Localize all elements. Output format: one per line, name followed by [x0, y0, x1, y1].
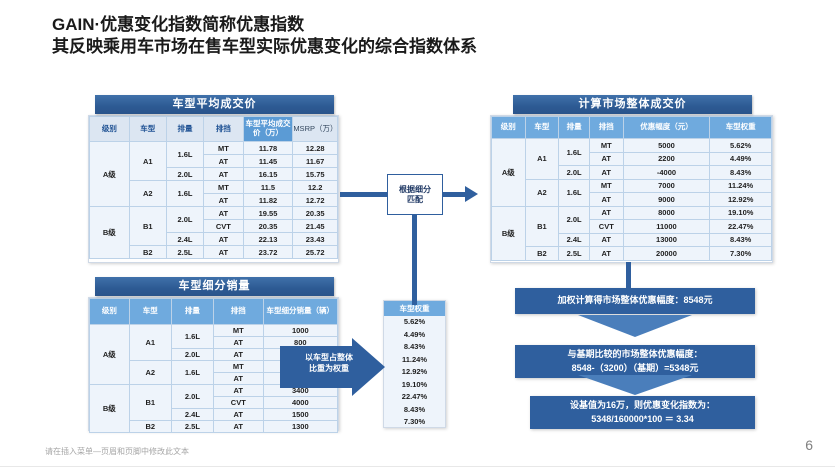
header-level: 级别: [90, 299, 130, 325]
header-weight: 车型权重: [710, 117, 772, 139]
table-header-row: 级别 车型 排量 排挡 优惠幅度（元） 车型权重: [492, 117, 772, 139]
weight-arrow-callout: 以车型占整体 比重为权重: [280, 338, 385, 396]
page-number: 6: [805, 437, 813, 453]
weight-column-card: 车型权重 5.62% 4.49% 8.43% 11.24% 12.92% 19.…: [383, 300, 446, 428]
cell-gear: AT: [213, 349, 263, 361]
cell-sales: 1300: [263, 421, 337, 433]
header-model: 车型: [129, 299, 171, 325]
result-box-market-discount: 加权计算得市场整体优惠幅度：8548元: [515, 288, 755, 314]
cell-discount: 7000: [623, 179, 710, 193]
cell-weight: 8.43%: [710, 233, 772, 247]
cell-model: B2: [129, 246, 166, 259]
cell-model: A1: [525, 139, 559, 180]
match-label-line-2: 匹配: [399, 195, 431, 205]
cell-displacement: 1.6L: [166, 181, 203, 207]
slide-canvas: GAIN·优惠变化指数简称优惠指数 其反映乘用车市场在售车型实际优惠变化的综合指…: [0, 0, 835, 467]
result-3-text: 设基值为16万，则优惠变化指数为： 5348/160000*100 ＝ 3.34: [570, 399, 715, 425]
cell-discount: 5000: [623, 139, 710, 153]
cell-displacement: 2.5L: [166, 246, 203, 259]
header-level: 级别: [90, 117, 130, 142]
result-2-text: 与基期比较的市场整体优惠幅度： 8548-（3200）（基期）=5348元: [567, 348, 702, 374]
cell-displacement: 1.6L: [559, 139, 590, 166]
cell-discount: 11000: [623, 220, 710, 234]
header-gear: 排挡: [213, 299, 263, 325]
cell-weight: 11.24%: [710, 179, 772, 193]
cell-model: A1: [129, 325, 171, 361]
avg-price-table-title: 车型平均成交价: [95, 95, 334, 114]
cell-gear: AT: [589, 247, 623, 261]
cell-weight: 8.43%: [710, 166, 772, 180]
weight-value: 12.92%: [384, 366, 445, 379]
connector-line-right: [443, 192, 467, 197]
result-box-base-comparison: 与基期比较的市场整体优惠幅度： 8548-（3200）（基期）=5348元: [515, 345, 755, 378]
table-row: A级 A1 1.6L MT 5000 5.62%: [492, 139, 772, 153]
down-arrow-icon: [578, 375, 692, 395]
title-line-secondary: 其反映乘用车市场在售车型实际优惠变化的综合指数体系: [52, 36, 792, 58]
cell-avg-price: 11.78: [243, 142, 293, 155]
cell-displacement: 1.6L: [171, 361, 213, 385]
cell-discount: 2200: [623, 152, 710, 166]
cell-model: A2: [129, 181, 166, 207]
cell-displacement: 1.6L: [171, 325, 213, 349]
table-row: A级 A1 1.6L MT 11.78 12.28: [90, 142, 338, 155]
cell-msrp: 12.2: [293, 181, 338, 194]
cell-gear: AT: [213, 409, 263, 421]
cell-msrp: 12.28: [293, 142, 338, 155]
title-line-primary: GAIN·优惠变化指数简称优惠指数: [52, 14, 792, 36]
cell-displacement: 1.6L: [559, 179, 590, 206]
connector-line-left: [340, 192, 388, 197]
cell-displacement: 2.4L: [171, 409, 213, 421]
market-price-table-title: 计算市场整体成交价: [513, 95, 752, 114]
table-row: B2 2.5L AT 20000 7.30%: [492, 247, 772, 261]
cell-gear: MT: [204, 142, 244, 155]
avg-price-table: 级别 车型 排量 排挡 车型平均成交价（万） MSRP（万） A级 A1 1.6…: [89, 116, 338, 259]
cell-model: B2: [129, 421, 171, 433]
header-avg-price: 车型平均成交价（万）: [243, 117, 293, 142]
weight-value: 8.43%: [384, 341, 445, 354]
header-displacement: 排量: [166, 117, 203, 142]
match-connector-box: 根据细分 匹配: [387, 174, 443, 215]
cell-discount: 9000: [623, 193, 710, 207]
cell-gear: CVT: [589, 220, 623, 234]
cell-displacement: 2.5L: [559, 247, 590, 261]
cell-displacement: 2.0L: [166, 168, 203, 181]
result-3-line-1: 设基值为16万，则优惠变化指数为：: [570, 399, 715, 412]
table-row: A2 1.6L MT 7000 11.24%: [492, 179, 772, 193]
cell-gear: AT: [589, 193, 623, 207]
header-gear: 排挡: [204, 117, 244, 142]
cell-weight: 4.49%: [710, 152, 772, 166]
cell-displacement: 2.4L: [166, 233, 203, 246]
match-connector-label: 根据细分 匹配: [399, 185, 431, 205]
cell-level: B级: [492, 206, 526, 260]
cell-avg-price: 16.15: [243, 168, 293, 181]
weight-value: 19.10%: [384, 379, 445, 392]
cell-displacement: 2.0L: [171, 349, 213, 361]
cell-model: A1: [129, 142, 166, 181]
table-row: B级 B1 2.0L AT 19.55 20.35: [90, 207, 338, 220]
cell-gear: AT: [204, 246, 244, 259]
avg-price-table-body: A级 A1 1.6L MT 11.78 12.28 AT 11.45 11.67…: [90, 142, 338, 259]
cell-gear: AT: [204, 207, 244, 220]
cell-displacement: 2.0L: [559, 166, 590, 180]
weight-value: 5.62%: [384, 316, 445, 329]
match-label-line-1: 根据细分: [399, 185, 431, 195]
cell-weight: 12.92%: [710, 193, 772, 207]
header-model: 车型: [525, 117, 559, 139]
header-gear: 排挡: [589, 117, 623, 139]
cell-gear: MT: [589, 179, 623, 193]
weight-arrow-line-2: 比重为权重: [290, 363, 368, 374]
cell-weight: 7.30%: [710, 247, 772, 261]
cell-gear: MT: [213, 325, 263, 337]
cell-discount: 20000: [623, 247, 710, 261]
cell-model: A2: [525, 179, 559, 206]
cell-avg-price: 22.13: [243, 233, 293, 246]
header-sales: 车型细分销量（辆）: [263, 299, 337, 325]
cell-avg-price: 23.72: [243, 246, 293, 259]
cell-level: A级: [90, 325, 130, 385]
cell-gear: MT: [213, 361, 263, 373]
cell-gear: AT: [589, 206, 623, 220]
result-2-line-2: 8548-（3200）（基期）=5348元: [567, 362, 702, 375]
cell-level: B级: [90, 207, 130, 259]
sales-table-title: 车型细分销量: [95, 277, 334, 296]
header-displacement: 排量: [171, 299, 213, 325]
cell-avg-price: 19.55: [243, 207, 293, 220]
cell-avg-price: 11.5: [243, 181, 293, 194]
cell-level: A级: [492, 139, 526, 207]
table-header-row: 级别 车型 排量 排挡 车型平均成交价（万） MSRP（万）: [90, 117, 338, 142]
page-title: GAIN·优惠变化指数简称优惠指数 其反映乘用车市场在售车型实际优惠变化的综合指…: [52, 14, 792, 58]
cell-gear: AT: [204, 194, 244, 207]
avg-price-table-card: 车型平均成交价 级别 车型 排量 排挡 车型平均成交价（万） MSRP（万） A…: [88, 115, 339, 263]
cell-gear: AT: [213, 337, 263, 349]
cell-msrp: 20.35: [293, 207, 338, 220]
weight-arrow-line-1: 以车型占整体: [290, 352, 368, 363]
table-row: A级 A1 1.6L MT 1000: [90, 325, 338, 337]
cell-displacement: 2.0L: [559, 206, 590, 233]
market-price-table-body: A级 A1 1.6L MT 5000 5.62% AT 2200 4.49% 2…: [492, 139, 772, 261]
cell-displacement: 2.4L: [559, 233, 590, 247]
cell-weight: 5.62%: [710, 139, 772, 153]
cell-level: A级: [90, 142, 130, 207]
cell-level: B级: [90, 385, 130, 433]
cell-avg-price: 20.35: [243, 220, 293, 233]
cell-weight: 19.10%: [710, 206, 772, 220]
cell-msrp: 11.67: [293, 155, 338, 168]
result-box-index-value: 设基值为16万，则优惠变化指数为： 5348/160000*100 ＝ 3.34: [530, 396, 755, 429]
weight-value: 8.43%: [384, 404, 445, 417]
header-model: 车型: [129, 117, 166, 142]
cell-gear: AT: [589, 166, 623, 180]
cell-model: B2: [525, 247, 559, 261]
table-header-row: 级别 车型 排量 排挡 车型细分销量（辆）: [90, 299, 338, 325]
cell-model: A2: [129, 361, 171, 385]
result-2-line-1: 与基期比较的市场整体优惠幅度：: [567, 348, 702, 361]
cell-gear: AT: [204, 155, 244, 168]
cell-model: B1: [525, 206, 559, 247]
cell-msrp: 21.45: [293, 220, 338, 233]
weight-value: 4.49%: [384, 329, 445, 342]
cell-displacement: 1.6L: [166, 142, 203, 168]
weight-arrow-label: 以车型占整体 比重为权重: [290, 352, 368, 374]
cell-gear: AT: [213, 373, 263, 385]
cell-displacement: 2.5L: [171, 421, 213, 433]
header-level: 级别: [492, 117, 526, 139]
header-displacement: 排量: [559, 117, 590, 139]
cell-sales: 1000: [263, 325, 337, 337]
cell-displacement: 2.0L: [171, 385, 213, 409]
cell-gear: AT: [204, 233, 244, 246]
header-msrp: MSRP（万）: [293, 117, 338, 142]
down-arrow-icon: [578, 315, 692, 337]
cell-sales: 4000: [263, 397, 337, 409]
market-price-table: 级别 车型 排量 排挡 优惠幅度（元） 车型权重 A级 A1 1.6L MT 5…: [491, 116, 772, 261]
cell-gear: AT: [204, 168, 244, 181]
cell-weight: 22.47%: [710, 220, 772, 234]
cell-gear: AT: [589, 233, 623, 247]
cell-gear: AT: [213, 385, 263, 397]
cell-msrp: 25.72: [293, 246, 338, 259]
right-arrow-icon: [465, 186, 478, 202]
cell-gear: AT: [213, 421, 263, 433]
cell-avg-price: 11.45: [243, 155, 293, 168]
cell-gear: AT: [589, 152, 623, 166]
cell-discount: 13000: [623, 233, 710, 247]
cell-gear: MT: [589, 139, 623, 153]
market-price-table-card: 计算市场整体成交价 级别 车型 排量 排挡 优惠幅度（元） 车型权重 A级 A1…: [490, 115, 773, 263]
cell-discount: -4000: [623, 166, 710, 180]
result-3-line-2: 5348/160000*100 ＝ 3.34: [570, 413, 715, 426]
cell-model: B1: [129, 207, 166, 246]
footer-placeholder-text: 请在插入菜单—页眉和页脚中修改此文本: [45, 446, 189, 457]
cell-gear: CVT: [213, 397, 263, 409]
connector-line-table2-down: [626, 262, 631, 290]
table-row: B级 B1 2.0L AT 8000 19.10%: [492, 206, 772, 220]
cell-msrp: 15.75: [293, 168, 338, 181]
cell-gear: CVT: [204, 220, 244, 233]
cell-gear: MT: [204, 181, 244, 194]
weight-value: 22.47%: [384, 391, 445, 404]
cell-model: B1: [129, 385, 171, 421]
cell-avg-price: 11.82: [243, 194, 293, 207]
header-discount: 优惠幅度（元）: [623, 117, 710, 139]
cell-msrp: 23.43: [293, 233, 338, 246]
cell-msrp: 12.72: [293, 194, 338, 207]
weight-value: 7.30%: [384, 416, 445, 429]
connector-line-down: [412, 215, 417, 305]
cell-discount: 8000: [623, 206, 710, 220]
cell-sales: 1500: [263, 409, 337, 421]
weight-value: 11.24%: [384, 354, 445, 367]
cell-displacement: 2.0L: [166, 207, 203, 233]
